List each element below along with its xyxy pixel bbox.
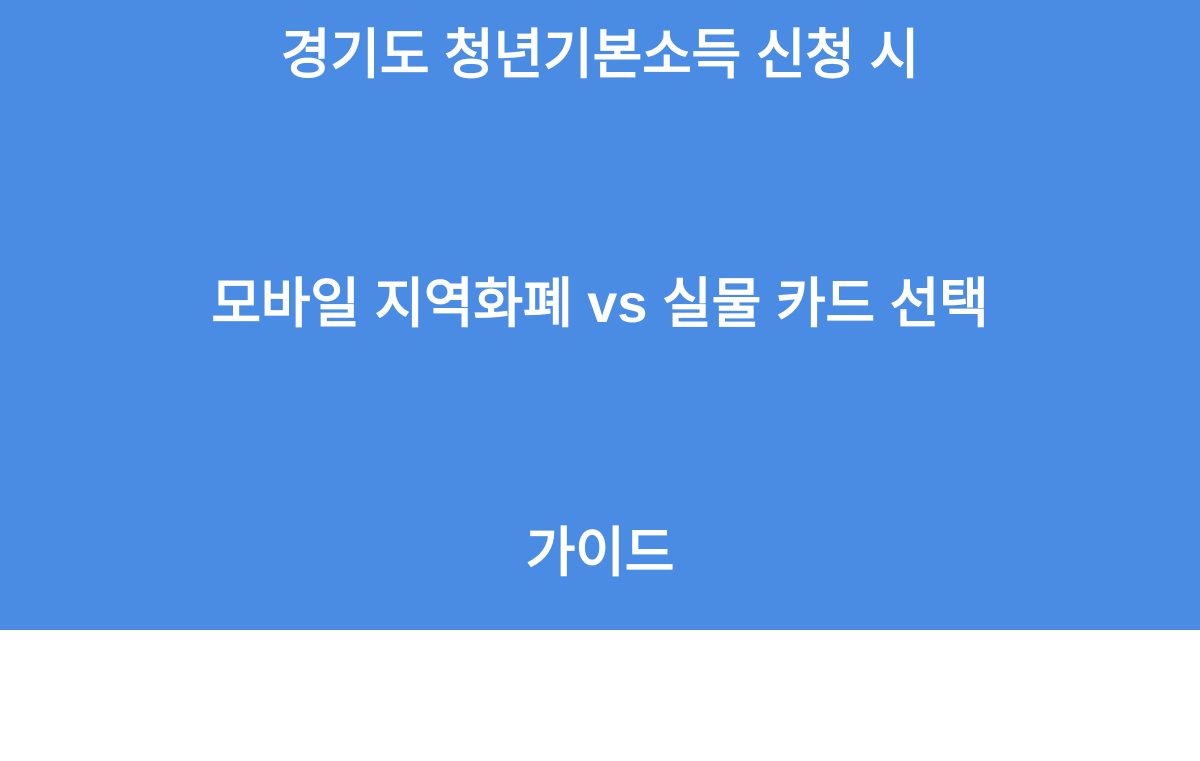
headline-line-1: 경기도 청년기본소득 신청 시 <box>80 14 1120 97</box>
headline-block: 경기도 청년기본소득 신청 시 모바일 지역화폐 vs 실물 카드 선택 가이드 <box>80 0 1120 761</box>
headline-line-2-suffix: 실물 카드 선택 <box>647 274 988 334</box>
page-title: 경기도 청년기본소득 신청 시 모바일 지역화폐 vs 실물 카드 선택 가이드 <box>80 0 1120 761</box>
og-card-canvas: 경기도 청년기본소득 신청 시 모바일 지역화폐 vs 실물 카드 선택 가이드 <box>0 0 1200 630</box>
headline-line-2-prefix: 모바일 지역화폐 <box>211 274 587 334</box>
headline-vs-token: vs <box>587 274 647 334</box>
headline-line-3: 가이드 <box>80 512 1120 595</box>
headline-line-2: 모바일 지역화폐 vs 실물 카드 선택 <box>80 263 1120 346</box>
